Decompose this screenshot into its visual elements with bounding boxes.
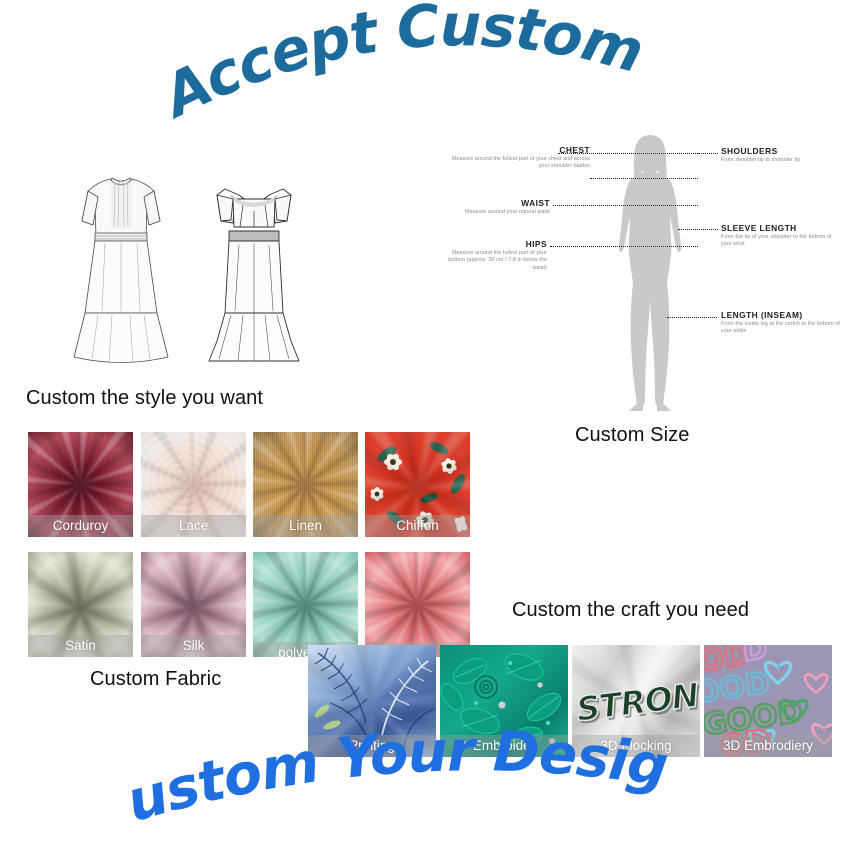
- fabric-tile-silk[interactable]: Silk: [141, 552, 246, 657]
- promo-banner: Accept Custom: [0, 0, 850, 850]
- fabric-tile-lace[interactable]: Lace: [141, 432, 246, 537]
- measure-chest: CHEST Measure around the fullest part of…: [445, 145, 590, 171]
- svg-text:Life: Life: [792, 703, 801, 709]
- craft-tile-3d-embrodiery[interactable]: OD OOD GOOD OD D LoveLifeLove 3D Embrodi…: [704, 645, 832, 757]
- measure-waist-desc: Measure around your natural waist: [445, 209, 550, 216]
- heading-custom-craft: Custom the craft you need: [512, 599, 749, 622]
- dotline-shoulders-out: [698, 153, 718, 154]
- svg-text:Accept Custom: Accept Custom: [149, 0, 649, 132]
- measure-length-inseam: LENGTH (INSEAM) From the inside leg at t…: [721, 310, 845, 336]
- dress-sketch-off-shoulder-mermaid: [195, 165, 313, 365]
- measure-chest-title: CHEST: [445, 145, 590, 156]
- measure-shoulders-title: SHOULDERS: [721, 146, 841, 157]
- fabric-label-chiffon: Chiffon: [365, 515, 470, 537]
- measure-sleeve-length: SLEEVE LENGTH From the tip of your shoul…: [721, 223, 843, 249]
- heading-custom-fabric: Custom Fabric: [90, 668, 221, 691]
- dotline-hips: [550, 246, 698, 247]
- fabric-label-linen: Linen: [253, 515, 358, 537]
- heading-custom-style: Custom the style you want: [26, 387, 263, 410]
- dotline-sleeve: [678, 229, 718, 230]
- measure-chest-desc: Measure around the fullest part of your …: [445, 156, 590, 171]
- measure-shoulders-desc: From shoulder tip to shoulder tip: [721, 157, 841, 164]
- fabric-label-silk: Silk: [141, 635, 246, 657]
- dotline-chest: [590, 178, 698, 179]
- dress-sketch-tiered-midi: [62, 165, 180, 365]
- svg-text:D: D: [740, 645, 770, 669]
- measure-waist-title: WAIST: [445, 198, 550, 209]
- fabric-tile-polyester[interactable]: polyester: [253, 552, 358, 657]
- craft-label-3d-embrodiery: 3D Embrodiery: [704, 735, 832, 757]
- heading-custom-size: Custom Size: [575, 424, 689, 447]
- dotline-waist: [553, 205, 698, 206]
- measure-sleeve-length-desc: From the tip of your shoulder to the bot…: [721, 234, 843, 249]
- fabric-tile-satin[interactable]: Satin: [28, 552, 133, 657]
- dotline-inseam: [667, 317, 717, 318]
- svg-text:Love: Love: [820, 727, 832, 733]
- female-body-silhouette: [595, 125, 705, 415]
- measure-length-inseam-desc: From the inside leg at the crotch to the…: [721, 321, 845, 336]
- headline-custom-your-design: Custom Your Design: [125, 750, 670, 850]
- measure-waist: WAIST Measure around your natural waist: [445, 198, 550, 216]
- measure-sleeve-length-title: SLEEVE LENGTH: [721, 223, 843, 234]
- measure-hips-title: HIPS: [445, 239, 547, 250]
- fabric-tile-corduroy[interactable]: Corduroy: [28, 432, 133, 537]
- svg-text:Love: Love: [774, 665, 786, 671]
- fabric-label-satin: Satin: [28, 635, 133, 657]
- measure-hips-desc: Measure around the fullest part of your …: [445, 250, 547, 272]
- fabric-tile-linen[interactable]: Linen: [253, 432, 358, 537]
- fabric-label-corduroy: Corduroy: [28, 515, 133, 537]
- headline-accept-custom-text: Accept Custom: [149, 0, 649, 132]
- fabric-tile-chiffon[interactable]: Chiffon: [365, 432, 470, 537]
- measure-hips: HIPS Measure around the fullest part of …: [445, 239, 547, 272]
- measure-length-inseam-title: LENGTH (INSEAM): [721, 310, 845, 321]
- fabric-label-lace: Lace: [141, 515, 246, 537]
- measure-shoulders: SHOULDERS From shoulder tip to shoulder …: [721, 146, 841, 164]
- fabric-tile-velvet[interactable]: velvet: [365, 552, 470, 657]
- headline-accept-custom: Accept Custom: [170, 20, 640, 120]
- size-measurement-chart: CHEST Measure around the fullest part of…: [445, 125, 845, 420]
